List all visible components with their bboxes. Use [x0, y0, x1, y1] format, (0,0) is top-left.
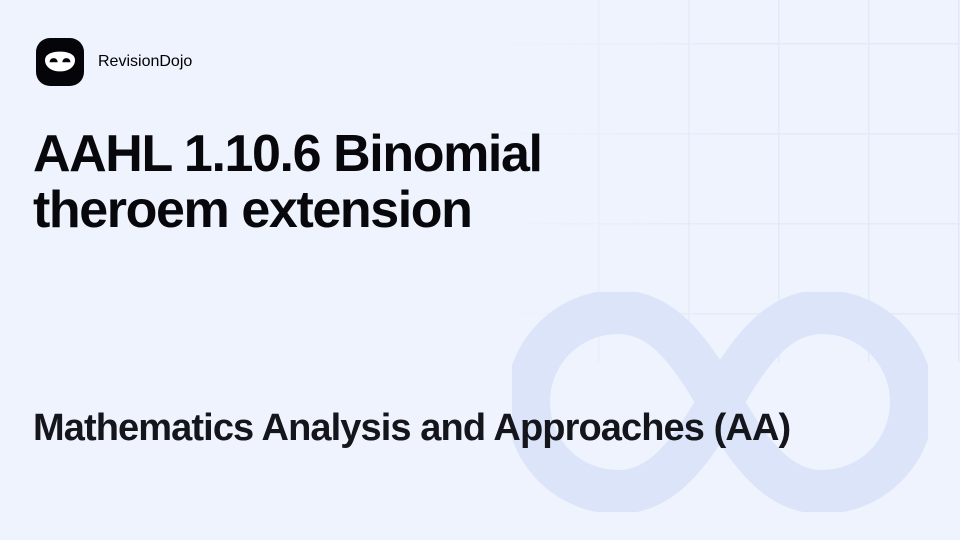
page-title: AAHL 1.10.6 Binomial theroem extension: [33, 126, 653, 238]
infinity-icon: [512, 292, 928, 512]
brand-lockup: RevisionDojo: [36, 38, 192, 86]
title-slide: RevisionDojo AAHL 1.10.6 Binomial theroe…: [0, 0, 960, 540]
subject-line: Mathematics Analysis and Approaches (AA): [33, 405, 913, 451]
brand-name: RevisionDojo: [98, 53, 192, 71]
ninja-mask-icon: [36, 38, 84, 86]
